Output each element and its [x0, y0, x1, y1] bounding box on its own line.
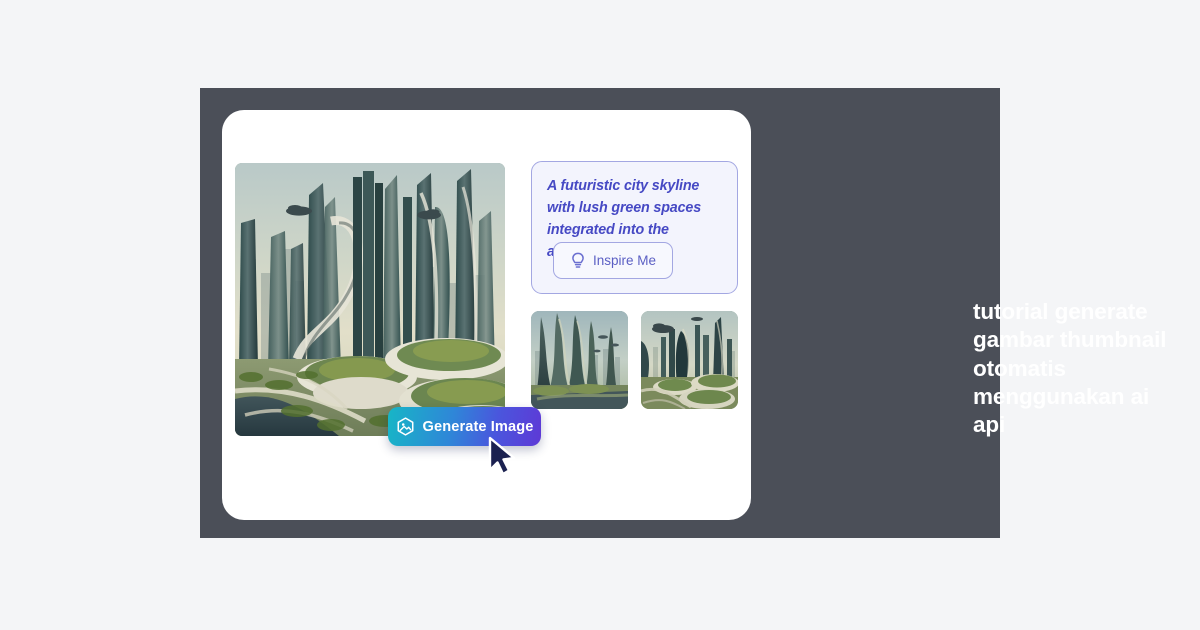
generate-image-button[interactable]: Generate Image — [388, 407, 541, 446]
prompt-box[interactable]: A futuristic city skyline with lush gree… — [531, 161, 738, 294]
generated-main-image[interactable] — [235, 163, 505, 436]
page-root: A futuristic city skyline with lush gree… — [0, 0, 1200, 630]
generate-image-label: Generate Image — [423, 419, 534, 435]
lightbulb-icon — [570, 252, 586, 270]
thumbnail-1-art — [531, 311, 628, 409]
dark-panel: A futuristic city skyline with lush gree… — [200, 88, 1000, 538]
thumbnail-2-art — [641, 311, 738, 409]
page-title: tutorial generate gambar thumbnail otoma… — [973, 298, 1173, 440]
generator-card: A futuristic city skyline with lush gree… — [222, 110, 751, 520]
thumbnail-list — [531, 311, 738, 409]
thumbnail-variant-1[interactable] — [531, 311, 628, 409]
inspire-me-label: Inspire Me — [593, 253, 656, 268]
inspire-me-button[interactable]: Inspire Me — [553, 242, 673, 279]
main-image-art — [235, 163, 505, 436]
thumbnail-variant-2[interactable] — [641, 311, 738, 409]
image-hexagon-icon — [396, 417, 415, 436]
